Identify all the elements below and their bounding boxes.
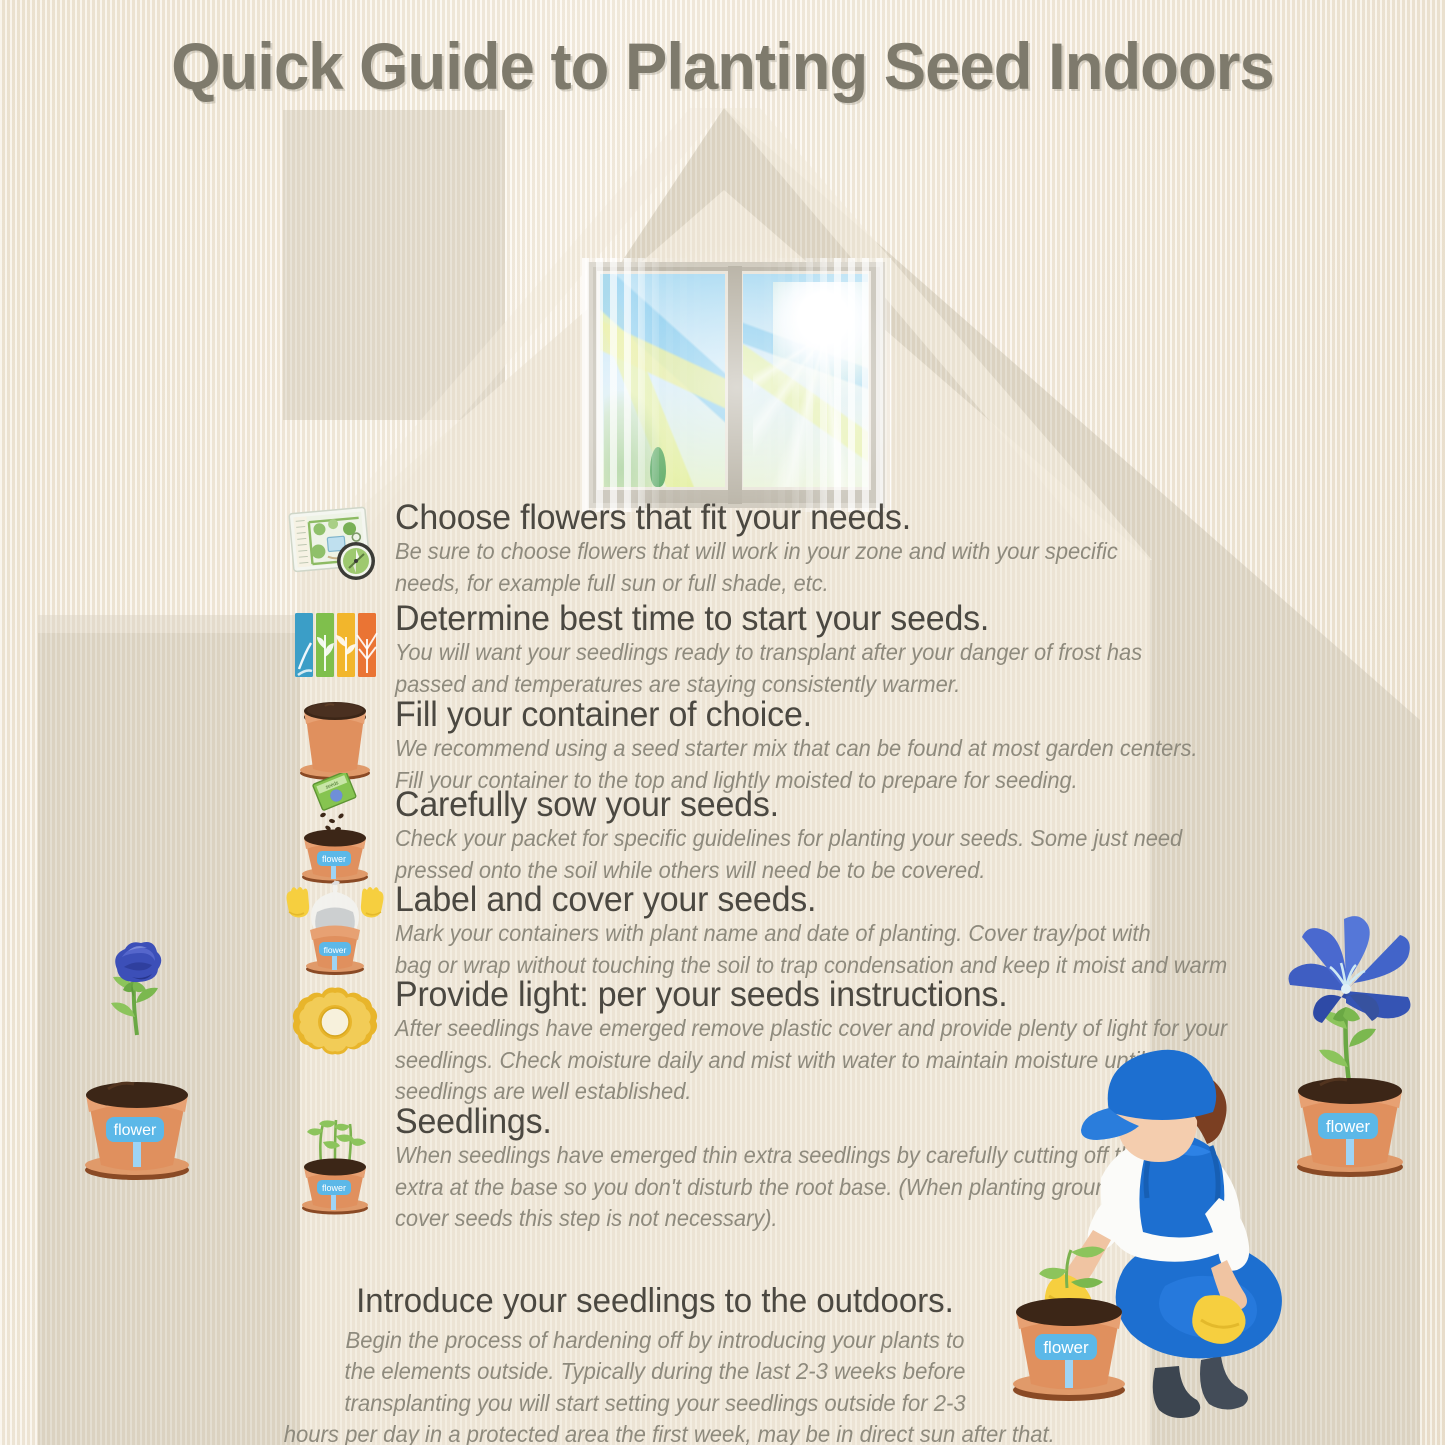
step-body-line: We recommend using a seed starter mix th… xyxy=(395,735,1198,761)
blue-lily-bloom xyxy=(1289,916,1411,1023)
step-body-line: Check your packet for specific guideline… xyxy=(395,825,1182,851)
pot-label-text: flower xyxy=(324,945,347,955)
outro-block: Introduce your seedlings to the outdoors… xyxy=(260,1282,1050,1445)
garden-plan-compass-icon xyxy=(283,506,387,588)
step-body-line: Be sure to choose flowers that will work… xyxy=(395,538,1118,564)
potted-blue-rose: flower xyxy=(62,925,212,1185)
leaf-icon xyxy=(650,447,666,487)
step-body-line: seedlings are well established. xyxy=(395,1078,691,1104)
seedlings-pot-icon: flower xyxy=(283,1090,387,1216)
step-body-line: needs, for example full sun or full shad… xyxy=(395,570,829,596)
blue-rose-bud xyxy=(115,942,161,982)
window-pane-left xyxy=(597,271,728,490)
sunlit-window xyxy=(588,262,885,508)
pot-label-text: flower xyxy=(1326,1118,1371,1136)
step-heading: Determine best time to start your seeds. xyxy=(395,601,1188,637)
seed-packet-sowing-icon: seeds xyxy=(283,773,387,885)
step-heading: Provide light: per your seeds instructio… xyxy=(395,977,1188,1013)
gloves-covered-pot-icon: flower xyxy=(283,872,387,980)
step-body-line: bag or wrap without touching the soil to… xyxy=(395,952,1227,978)
step-item: Choose flowers that fit your needs. Be s… xyxy=(283,500,1213,601)
four-seasons-bars-icon xyxy=(283,609,387,681)
page-title: Quick Guide to Planting Seed Indoors xyxy=(29,28,1416,104)
outro-body-line: transplanting you will start setting you… xyxy=(284,1388,1027,1419)
pot-label-text: flower xyxy=(114,1122,157,1139)
step-text: Label and cover your seeds. Mark your co… xyxy=(395,882,1213,981)
step-body-line: passed and temperatures are staying cons… xyxy=(395,671,960,697)
boot-icon xyxy=(1153,1366,1200,1418)
step-body-line: pressed onto the soil while others will … xyxy=(395,857,985,883)
pot-label-text: flower xyxy=(322,854,346,864)
step-text: Carefully sow your seeds. Check your pac… xyxy=(395,787,1213,886)
step-body: Check your packet for specific guideline… xyxy=(395,823,1156,886)
step-item: Fill your container of choice. We recomm… xyxy=(283,697,1213,787)
step-text: Choose flowers that fit your needs. Be s… xyxy=(395,500,1213,599)
step-body: Be sure to choose flowers that will work… xyxy=(395,536,1156,599)
step-heading: Choose flowers that fit your needs. xyxy=(395,500,1188,536)
window-pane-right xyxy=(740,271,871,490)
step-body: You will want your seedlings ready to tr… xyxy=(395,637,1156,700)
window-mullion xyxy=(728,266,742,504)
outro-body-line: the elements outside. Typically during t… xyxy=(284,1356,1027,1387)
pot-label-text: flower xyxy=(322,1183,346,1193)
boot-icon xyxy=(1200,1356,1248,1410)
cap-icon xyxy=(1108,1050,1216,1120)
sun-light-icon xyxy=(283,983,387,1061)
glove-right-icon xyxy=(361,887,384,917)
step-body-line: cover seeds this step is not necessary). xyxy=(395,1205,778,1231)
kneeling-gardener: flower xyxy=(1005,1038,1320,1438)
step-text: Determine best time to start your seeds.… xyxy=(395,601,1213,700)
filled-pot-icon xyxy=(283,697,387,783)
left-wall-top xyxy=(38,615,300,633)
glove-left-icon xyxy=(287,887,310,917)
step-heading: Carefully sow your seeds. xyxy=(395,787,1188,823)
outro-body-line: hours per day in a protected area the fi… xyxy=(284,1419,1027,1445)
step-heading: Label and cover your seeds. xyxy=(395,882,1188,918)
step-heading: Fill your container of choice. xyxy=(395,697,1188,733)
outro-body-line: Begin the process of hardening off by in… xyxy=(284,1325,1027,1356)
outro-body: Begin the process of hardening off by in… xyxy=(284,1325,1027,1445)
step-item: flower Label and cover your seeds. Mark … xyxy=(283,882,1213,977)
step-item: Determine best time to start your seeds.… xyxy=(283,601,1213,697)
step-text: Fill your container of choice. We recomm… xyxy=(395,697,1213,796)
step-body-line: You will want your seedlings ready to tr… xyxy=(395,639,1142,665)
step-body-line: Mark your containers with plant name and… xyxy=(395,920,1151,946)
pot-label-text: flower xyxy=(1043,1338,1089,1357)
sun-icon xyxy=(773,282,871,412)
step-item: seeds xyxy=(283,787,1213,882)
infographic-poster: Quick Guide to Planting Seed Indoors xyxy=(0,0,1445,1445)
step-body: Mark your containers with plant name and… xyxy=(395,918,1156,981)
outro-heading: Introduce your seedlings to the outdoors… xyxy=(272,1282,1038,1321)
